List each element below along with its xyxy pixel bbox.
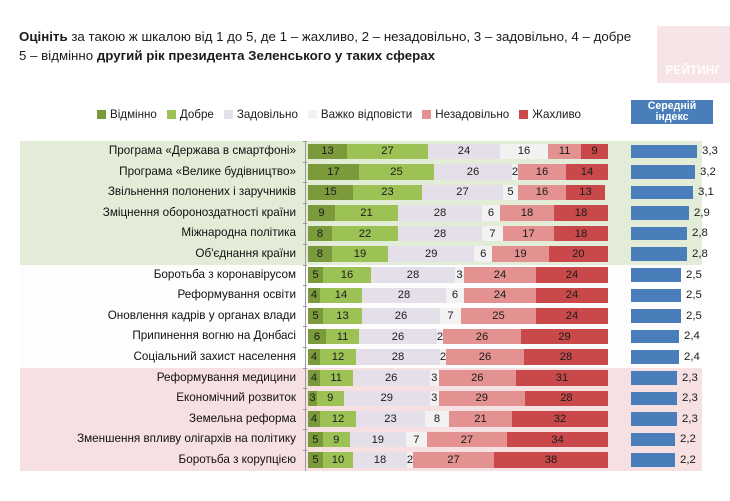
bar-segment[interactable]: 14 [320,288,362,304]
legend-swatch-icon [519,110,528,119]
index-value-label: 2,4 [684,326,700,347]
row-category-label: Економічний розвиток [176,388,296,409]
row-category-label: Зміцнення обороноздатності країни [103,203,296,224]
bar-segment[interactable]: 3 [308,391,317,407]
chart-row: Реформування освіти41428624242,5 [0,285,730,306]
row-category-label: Земельна реформа [189,409,296,430]
bar-segment[interactable]: 3 [430,391,439,407]
bar-segment[interactable]: 18 [554,205,608,221]
legend-item-3[interactable]: Важко відповісти [308,108,412,121]
bar-segment[interactable]: 25 [359,164,434,180]
bar-segment[interactable]: 17 [308,164,359,180]
bar-segment[interactable]: 5 [308,432,323,448]
index-value-label: 2,2 [680,429,696,450]
stacked-bar[interactable]: 6112622629 [308,329,608,345]
chart-row: Міжнародна політика82228717182,8 [0,223,730,244]
stacked-bar[interactable]: 8222871718 [308,226,608,242]
row-category-label: Об'єднання країни [195,244,296,265]
bar-segment[interactable]: 27 [422,185,503,201]
chart-page: РЕЙТИНГ Оцініть за такою ж шкалою від 1 … [0,0,730,501]
bar-segment[interactable]: 15 [308,185,353,201]
bar-segment[interactable]: 28 [362,288,446,304]
stacked-bar[interactable]: 591972734 [308,432,608,448]
bar-segment[interactable]: 21 [335,205,398,221]
legend-item-1[interactable]: Добре [167,108,214,121]
axis-tick [303,326,307,327]
bar-segment[interactable]: 21 [449,411,512,427]
index-bar[interactable] [631,330,679,344]
index-value-label: 3,1 [698,182,714,203]
bar-segment[interactable]: 5 [308,308,323,324]
row-category-label: Звільнення полонених і заручників [108,182,296,203]
bar-segment[interactable]: 18 [353,452,407,468]
index-bar[interactable] [631,350,679,364]
bar-segment[interactable]: 26 [443,329,521,345]
stacked-bar[interactable]: 4142862424 [308,288,608,304]
stacked-bar[interactable]: 5162832424 [308,267,608,283]
bar-segment[interactable]: 16 [500,144,548,160]
bar-segment[interactable]: 28 [371,267,455,283]
bar-segment[interactable]: 29 [439,391,525,407]
stacked-bar[interactable]: 9212861818 [308,205,608,221]
bar-segment[interactable]: 5 [308,267,323,283]
bar-segment[interactable]: 26 [359,329,437,345]
bar-segment[interactable]: 18 [554,226,608,242]
bar-segment[interactable]: 19 [350,432,406,448]
bar-segment[interactable]: 28 [398,205,482,221]
axis-tick [303,306,307,307]
bar-segment[interactable]: 19 [332,246,388,262]
bar-segment[interactable]: 24 [536,308,608,324]
bar-segment[interactable]: 16 [518,185,566,201]
stacked-bar[interactable]: 13272416119 [308,144,608,160]
stacked-bar[interactable]: 5132672524 [308,308,608,324]
page-title: Оцініть за такою ж шкалою від 1 до 5, де… [19,27,639,65]
row-category-label: Міжнародна політика [181,223,296,244]
row-category-label: Боротьба з корупцією [179,450,296,471]
bar-segment[interactable]: 5 [503,185,518,201]
stacked-bar[interactable]: 17252621614 [308,164,608,180]
stacked-bar[interactable]: 15232751613 [308,185,608,201]
row-category-label: Припинення вогню на Донбасі [132,326,296,347]
bar-segment[interactable]: 12 [320,349,356,365]
index-value-label: 2,5 [686,285,702,306]
axis-tick [303,388,307,389]
chart-row: Зміцнення обороноздатності країни9212861… [0,203,730,224]
chart-legend: ВідмінноДобреЗадовільноВажко відповістиН… [97,106,581,122]
bar-segment[interactable]: 9 [323,432,350,448]
row-category-label: Соціальний захист населення [133,347,296,368]
axis-tick [303,347,307,348]
bar-segment[interactable]: 6 [446,288,464,304]
index-value-label: 2,4 [684,347,700,368]
legend-label: Відмінно [110,108,157,121]
stacked-bar[interactable]: 4112632631 [308,370,608,386]
bar-segment[interactable]: 5 [308,452,323,468]
legend-item-5[interactable]: Жахливо [519,108,581,121]
index-bar[interactable] [631,309,681,323]
axis-tick [303,450,307,451]
bar-segment[interactable]: 26 [439,370,516,386]
index-value-label: 2,5 [686,265,702,286]
axis-tick [303,141,307,142]
index-value-label: 2,8 [692,223,708,244]
row-category-label: Програма «Велике будівництво» [119,162,296,183]
chart-row: Соціальний захист населення41228226282,4 [0,347,730,368]
bar-segment[interactable]: 16 [518,164,566,180]
legend-swatch-icon [167,110,176,119]
bar-segment[interactable]: 27 [413,452,494,468]
index-bar[interactable] [631,186,693,200]
index-bar[interactable] [631,145,697,159]
bar-segment[interactable]: 31 [516,370,608,386]
index-value-label: 2,9 [694,203,710,224]
bar-segment[interactable]: 23 [356,411,425,427]
index-bar[interactable] [631,289,681,303]
axis-tick [303,223,307,224]
bar-segment[interactable]: 27 [347,144,428,160]
bar-segment[interactable]: 13 [566,185,605,201]
bar-segment[interactable]: 14 [566,164,608,180]
bar-segment[interactable]: 28 [525,391,608,407]
index-bar[interactable] [631,392,677,406]
chart-row: Об'єднання країни81929619202,8 [0,244,730,265]
index-value-label: 2,2 [680,450,696,471]
bar-segment[interactable]: 17 [503,226,554,242]
bar-segment[interactable]: 3 [455,267,464,283]
index-value-label: 2,3 [682,368,698,389]
row-category-label: Програма «Держава в смартфоні» [109,141,296,162]
bar-segment[interactable]: 27 [427,432,507,448]
bar-segment[interactable]: 11 [320,370,353,386]
legend-swatch-icon [308,110,317,119]
rating-watermark: РЕЙТИНГ [657,26,730,83]
bar-segment[interactable]: 7 [482,226,503,242]
bar-segment[interactable]: 7 [406,432,427,448]
bar-segment[interactable]: 8 [308,246,332,262]
bar-segment[interactable]: 26 [446,349,524,365]
bar-segment[interactable]: 6 [308,329,326,345]
bar-segment[interactable]: 24 [428,144,500,160]
axis-tick [303,409,307,410]
bar-segment[interactable]: 34 [507,432,608,448]
bar-segment[interactable]: 20 [549,246,608,262]
index-value-label: 2,3 [682,409,698,430]
bar-segment[interactable]: 29 [388,246,474,262]
axis-tick [303,182,307,183]
index-bar[interactable] [631,433,675,447]
axis-tick [303,265,307,266]
bar-segment[interactable]: 3 [430,370,439,386]
page-title-lead: Оцініть [19,29,68,44]
bar-segment[interactable]: 4 [308,370,320,386]
row-category-label: Реформування медицини [157,368,296,389]
bar-segment[interactable]: 11 [548,144,581,160]
bar-segment[interactable]: 28 [398,226,482,242]
chart-row: Економічний розвиток3929329282,3 [0,388,730,409]
legend-label: Добре [180,108,214,121]
index-bar[interactable] [631,247,687,261]
legend-label: Задовільно [237,108,298,121]
bar-segment[interactable]: 24 [464,267,536,283]
index-bar[interactable] [631,412,677,426]
bar-segment[interactable]: 6 [482,205,500,221]
index-value-label: 2,3 [682,388,698,409]
index-value-label: 3,3 [702,141,718,162]
bar-segment[interactable]: 26 [362,308,440,324]
chart-row: Звільнення полонених і заручників1523275… [0,182,730,203]
axis-tick [303,203,307,204]
bar-segment[interactable]: 9 [581,144,608,160]
legend-swatch-icon [422,110,431,119]
axis-tick [303,162,307,163]
bar-segment[interactable]: 29 [521,329,608,345]
bar-segment[interactable]: 4 [308,411,320,427]
bar-segment[interactable]: 22 [332,226,398,242]
rating-watermark-label: РЕЙТИНГ [666,65,722,77]
bar-segment[interactable]: 28 [356,349,440,365]
bar-segment[interactable]: 25 [461,308,536,324]
bar-segment[interactable]: 32 [512,411,608,427]
stacked-bar[interactable]: 5101822738 [308,452,608,468]
legend-swatch-icon [224,110,233,119]
chart-row: Земельна реформа41223821322,3 [0,409,730,430]
bar-segment[interactable]: 16 [323,267,371,283]
bar-segment[interactable]: 12 [320,411,356,427]
bar-segment[interactable]: 8 [425,411,449,427]
stacked-bar[interactable]: 8192961920 [308,246,608,262]
index-column-header: Середній індекс [631,100,713,124]
legend-item-0[interactable]: Відмінно [97,108,157,121]
bar-segment[interactable]: 24 [536,288,608,304]
chart-row: Боротьба з корупцією51018227382,2 [0,450,730,471]
legend-label: Незадовільно [435,108,509,121]
bar-segment[interactable]: 24 [464,288,536,304]
chart-rows: Програма «Держава в смартфоні»1327241611… [0,141,730,471]
bar-segment[interactable]: 9 [308,205,335,221]
stacked-bar[interactable]: 4122382132 [308,411,608,427]
legend-label: Важко відповісти [321,108,412,121]
legend-swatch-icon [97,110,106,119]
chart-row: Боротьба з коронавірусом51628324242,5 [0,265,730,286]
bar-segment[interactable]: 10 [323,452,353,468]
chart-row: Припинення вогню на Донбасі61126226292,4 [0,326,730,347]
index-value-label: 2,8 [692,244,708,265]
axis-tick [303,429,307,430]
legend-label: Жахливо [532,108,581,121]
row-category-label: Боротьба з коронавірусом [154,265,296,286]
bar-segment[interactable]: 11 [326,329,359,345]
axis-tick [303,368,307,369]
bar-segment[interactable]: 6 [474,246,492,262]
bar-segment[interactable]: 4 [308,349,320,365]
bar-segment[interactable]: 8 [308,226,332,242]
chart-row: Оновлення кадрів у органах влади51326725… [0,306,730,327]
bar-segment[interactable]: 24 [536,267,608,283]
bar-segment[interactable]: 7 [440,308,461,324]
chart-row: Програма «Велике будівництво»17252621614… [0,162,730,183]
bar-segment[interactable]: 28 [524,349,608,365]
chart-row: Програма «Держава в смартфоні»1327241611… [0,141,730,162]
bar-segment[interactable]: 26 [434,164,512,180]
bar-segment[interactable]: 9 [317,391,344,407]
index-bar[interactable] [631,371,677,385]
bar-segment[interactable]: 29 [344,391,430,407]
axis-tick [303,285,307,286]
legend-item-4[interactable]: Незадовільно [422,108,509,121]
stacked-bar[interactable]: 4122822628 [308,349,608,365]
index-header-line2: індекс [655,112,688,124]
bar-segment[interactable]: 23 [353,185,422,201]
index-bar[interactable] [631,268,681,282]
index-value-label: 2,5 [686,306,702,327]
bar-segment[interactable]: 38 [494,452,608,468]
row-category-label: Оновлення кадрів у органах влади [108,306,296,327]
row-category-label: Реформування освіти [177,285,296,306]
bar-segment[interactable]: 19 [492,246,548,262]
index-bar[interactable] [631,165,695,179]
bar-segment[interactable]: 26 [353,370,430,386]
chart-row: Зменшення впливу олігархів на політику59… [0,429,730,450]
bar-segment[interactable]: 13 [308,144,347,160]
index-bar[interactable] [631,453,675,467]
bar-segment[interactable]: 4 [308,288,320,304]
stacked-bar[interactable]: 392932928 [308,391,608,407]
index-bar[interactable] [631,227,687,241]
row-category-label: Зменшення впливу олігархів на політику [77,429,296,450]
chart-row: Реформування медицини41126326312,3 [0,368,730,389]
axis-tick [303,244,307,245]
legend-item-2[interactable]: Задовільно [224,108,298,121]
bar-segment[interactable]: 18 [500,205,554,221]
page-title-tail: другий рік президента Зеленського у таки… [97,48,435,63]
index-bar[interactable] [631,206,689,220]
index-value-label: 3,2 [700,162,716,183]
bar-segment[interactable]: 13 [323,308,362,324]
